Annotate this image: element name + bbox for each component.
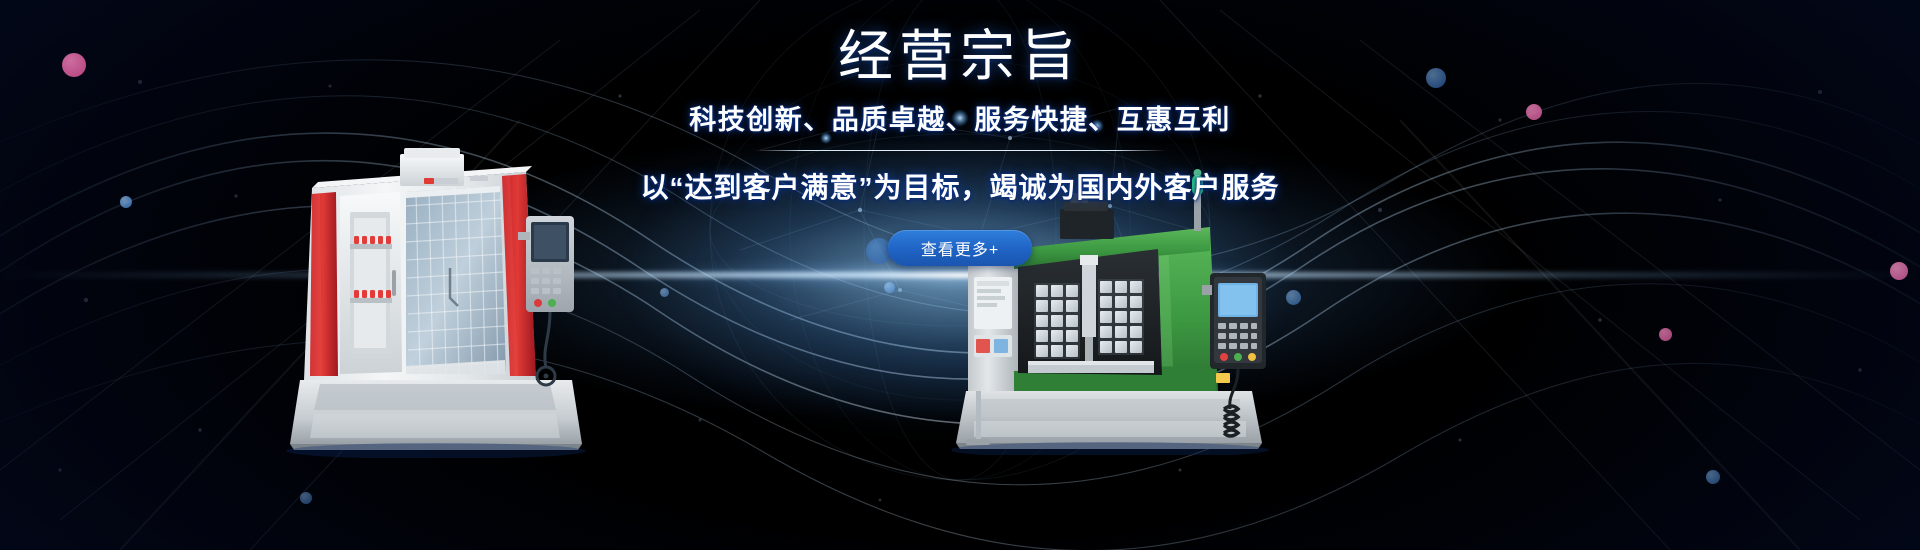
divider [755,150,1165,151]
page-title: 经营宗旨 [838,28,1082,84]
banner-subtitle: 科技创新、品质卓越、服务快捷、互惠互利 [689,98,1231,137]
view-more-button[interactable]: 查看更多+ [888,230,1032,266]
hero-banner: 经营宗旨 科技创新、品质卓越、服务快捷、互惠互利 以“达到客户满意”为目标，竭诚… [0,0,1920,550]
banner-tagline: 以“达到客户满意”为目标，竭诚为国内外客户服务 [640,166,1279,206]
banner-content: 经营宗旨 科技创新、品质卓越、服务快捷、互惠互利 以“达到客户满意”为目标，竭诚… [0,0,1920,550]
